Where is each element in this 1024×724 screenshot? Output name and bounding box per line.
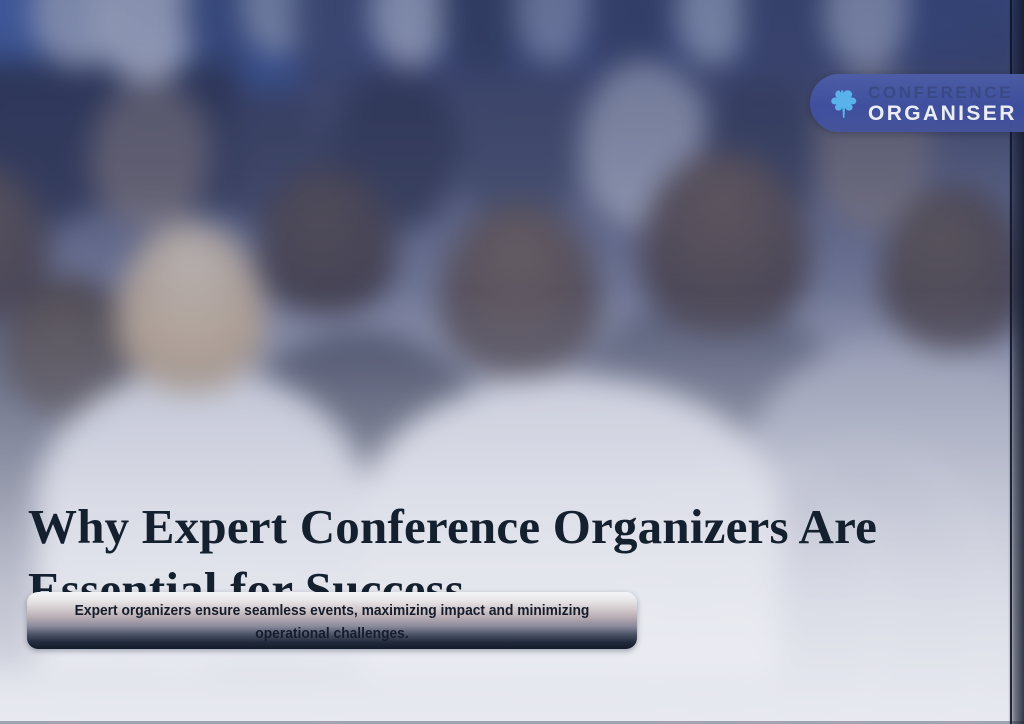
hero-banner: CONFERENCE ORGANISER Why Expert Conferen… — [0, 0, 1024, 724]
brand-wordmark: CONFERENCE ORGANISER — [868, 83, 1017, 124]
butterfly-icon — [824, 86, 858, 120]
brand-line-organiser: ORGANISER — [868, 103, 1017, 124]
brand-line-conference: CONFERENCE — [868, 84, 1017, 101]
brand-badge[interactable]: CONFERENCE ORGANISER — [810, 74, 1024, 132]
subtitle-text: Expert organizers ensure seamless events… — [64, 599, 599, 645]
subtitle-banner: Expert organizers ensure seamless events… — [27, 592, 637, 649]
